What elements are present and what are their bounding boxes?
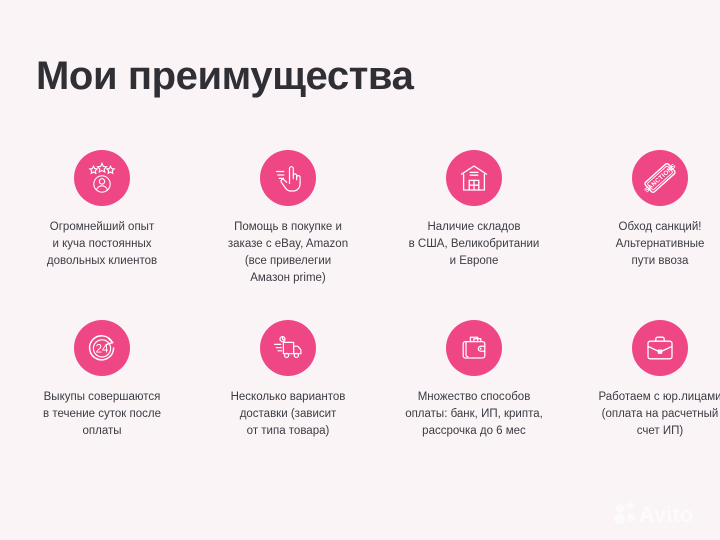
feature-item-legal-entities[interactable]: Работаем с юр.лицами (оплата на расчетны… <box>575 320 720 490</box>
feature-caption: Работаем с юр.лицами (оплата на расчетны… <box>574 389 720 440</box>
feature-caption: Обход санкций! Альтернативные пути ввоза <box>574 219 720 270</box>
features-row-2: 24 Выкупы совершаются в течение суток по… <box>0 320 720 490</box>
avito-wordmark: Avito <box>639 502 693 527</box>
stars-user-icon <box>85 161 119 195</box>
clock-24-icon: 24 <box>85 331 119 365</box>
feature-icon-badge <box>446 320 502 376</box>
features-grid: Огромнейший опыт и куча постоянных довол… <box>0 150 720 490</box>
warehouse-icon <box>458 162 490 194</box>
delivery-truck-icon <box>271 331 305 365</box>
feature-item-warehouses[interactable]: Наличие складов в США, Великобритании и … <box>389 150 559 320</box>
feature-caption: Наличие складов в США, Великобритании и … <box>388 219 560 270</box>
feature-icon-badge <box>632 320 688 376</box>
feature-item-delivery[interactable]: Несколько вариантов доставки (зависит от… <box>203 320 373 490</box>
feature-icon-badge <box>260 150 316 206</box>
feature-caption: Множество способов оплаты: банк, ИП, кри… <box>388 389 560 440</box>
feature-icon-badge: SANCTIONS <box>632 150 688 206</box>
feature-item-purchase-help[interactable]: Помощь в покупке и заказе с eBay, Amazon… <box>203 150 373 320</box>
feature-caption: Огромнейший опыт и куча постоянных довол… <box>16 219 188 270</box>
features-row-1: Огромнейший опыт и куча постоянных довол… <box>0 150 720 320</box>
feature-icon-badge: 24 <box>74 320 130 376</box>
feature-item-24h-buyout[interactable]: 24 Выкупы совершаются в течение суток по… <box>17 320 187 490</box>
hand-click-icon <box>272 162 304 194</box>
svg-text:SANCTIONS: SANCTIONS <box>643 163 677 195</box>
avito-watermark: Avito <box>610 496 706 528</box>
svg-text:24: 24 <box>96 344 109 356</box>
feature-icon-badge <box>446 150 502 206</box>
feature-caption: Помощь в покупке и заказе с eBay, Amazon… <box>202 219 374 287</box>
sanctions-stamp-icon: SANCTIONS <box>641 159 679 197</box>
feature-caption: Выкупы совершаются в течение суток после… <box>16 389 188 440</box>
feature-item-sanctions[interactable]: SANCTIONS Обход санкций! Альтернативные … <box>575 150 720 320</box>
page-title: Мои преимущества <box>36 52 413 100</box>
feature-item-experience[interactable]: Огромнейший опыт и куча постоянных довол… <box>17 150 187 320</box>
feature-item-payment-methods[interactable]: Множество способов оплаты: банк, ИП, кри… <box>389 320 559 490</box>
feature-caption: Несколько вариантов доставки (зависит от… <box>202 389 374 440</box>
wallet-icon <box>458 332 490 364</box>
feature-icon-badge <box>74 150 130 206</box>
advantages-infographic: Мои преимущества <box>0 0 720 540</box>
briefcase-icon <box>644 332 676 364</box>
feature-icon-badge <box>260 320 316 376</box>
